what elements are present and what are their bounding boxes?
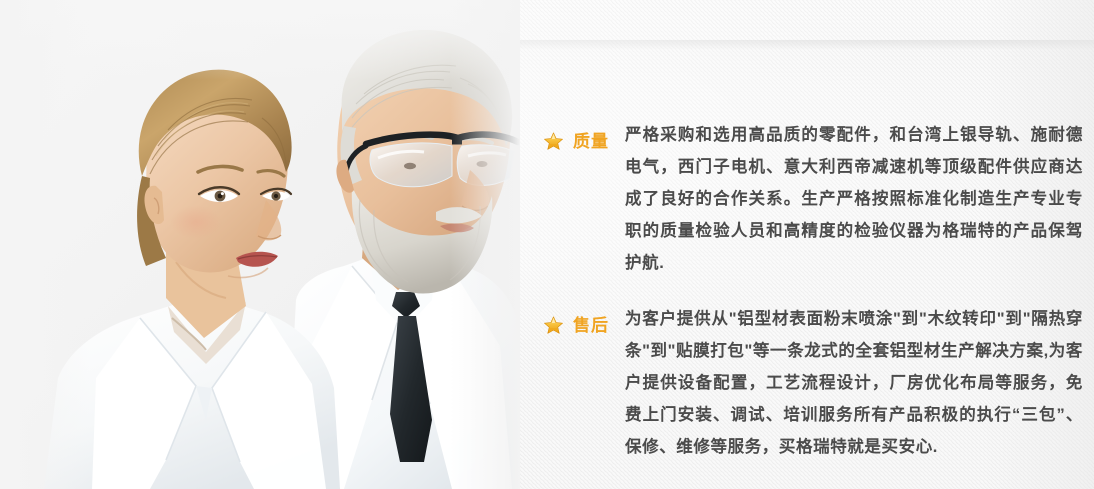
- two-lab-technicians-photo: [0, 0, 520, 489]
- feature-item-aftersales: 售后 为客户提供从"铝型材表面粉末喷涂"到"木纹转印"到"隔热穿条"到"贴膜打包…: [543, 303, 1083, 463]
- feature-body-aftersales: 为客户提供从"铝型材表面粉末喷涂"到"木纹转印"到"隔热穿条"到"贴膜打包"等一…: [543, 303, 1083, 463]
- feature-list: 质量 严格采购和选用高品质的零配件，和台湾上银导轨、施耐德电气，西门子电机、意大…: [543, 119, 1083, 487]
- feature-label-quality: 质量: [573, 133, 609, 150]
- feature-heading-aftersales: 售后: [543, 315, 609, 335]
- promo-banner: 质量 严格采购和选用高品质的零配件，和台湾上银导轨、施耐德电气，西门子电机、意大…: [0, 0, 1094, 489]
- feature-item-quality: 质量 严格采购和选用高品质的零配件，和台湾上银导轨、施耐德电气，西门子电机、意大…: [543, 119, 1083, 279]
- gold-star-icon: [543, 131, 564, 151]
- feature-label-aftersales: 售后: [573, 317, 609, 334]
- feature-body-quality: 严格采购和选用高品质的零配件，和台湾上银导轨、施耐德电气，西门子电机、意大利西帝…: [543, 119, 1083, 279]
- feature-heading-quality: 质量: [543, 131, 609, 151]
- gold-star-icon: [543, 315, 564, 335]
